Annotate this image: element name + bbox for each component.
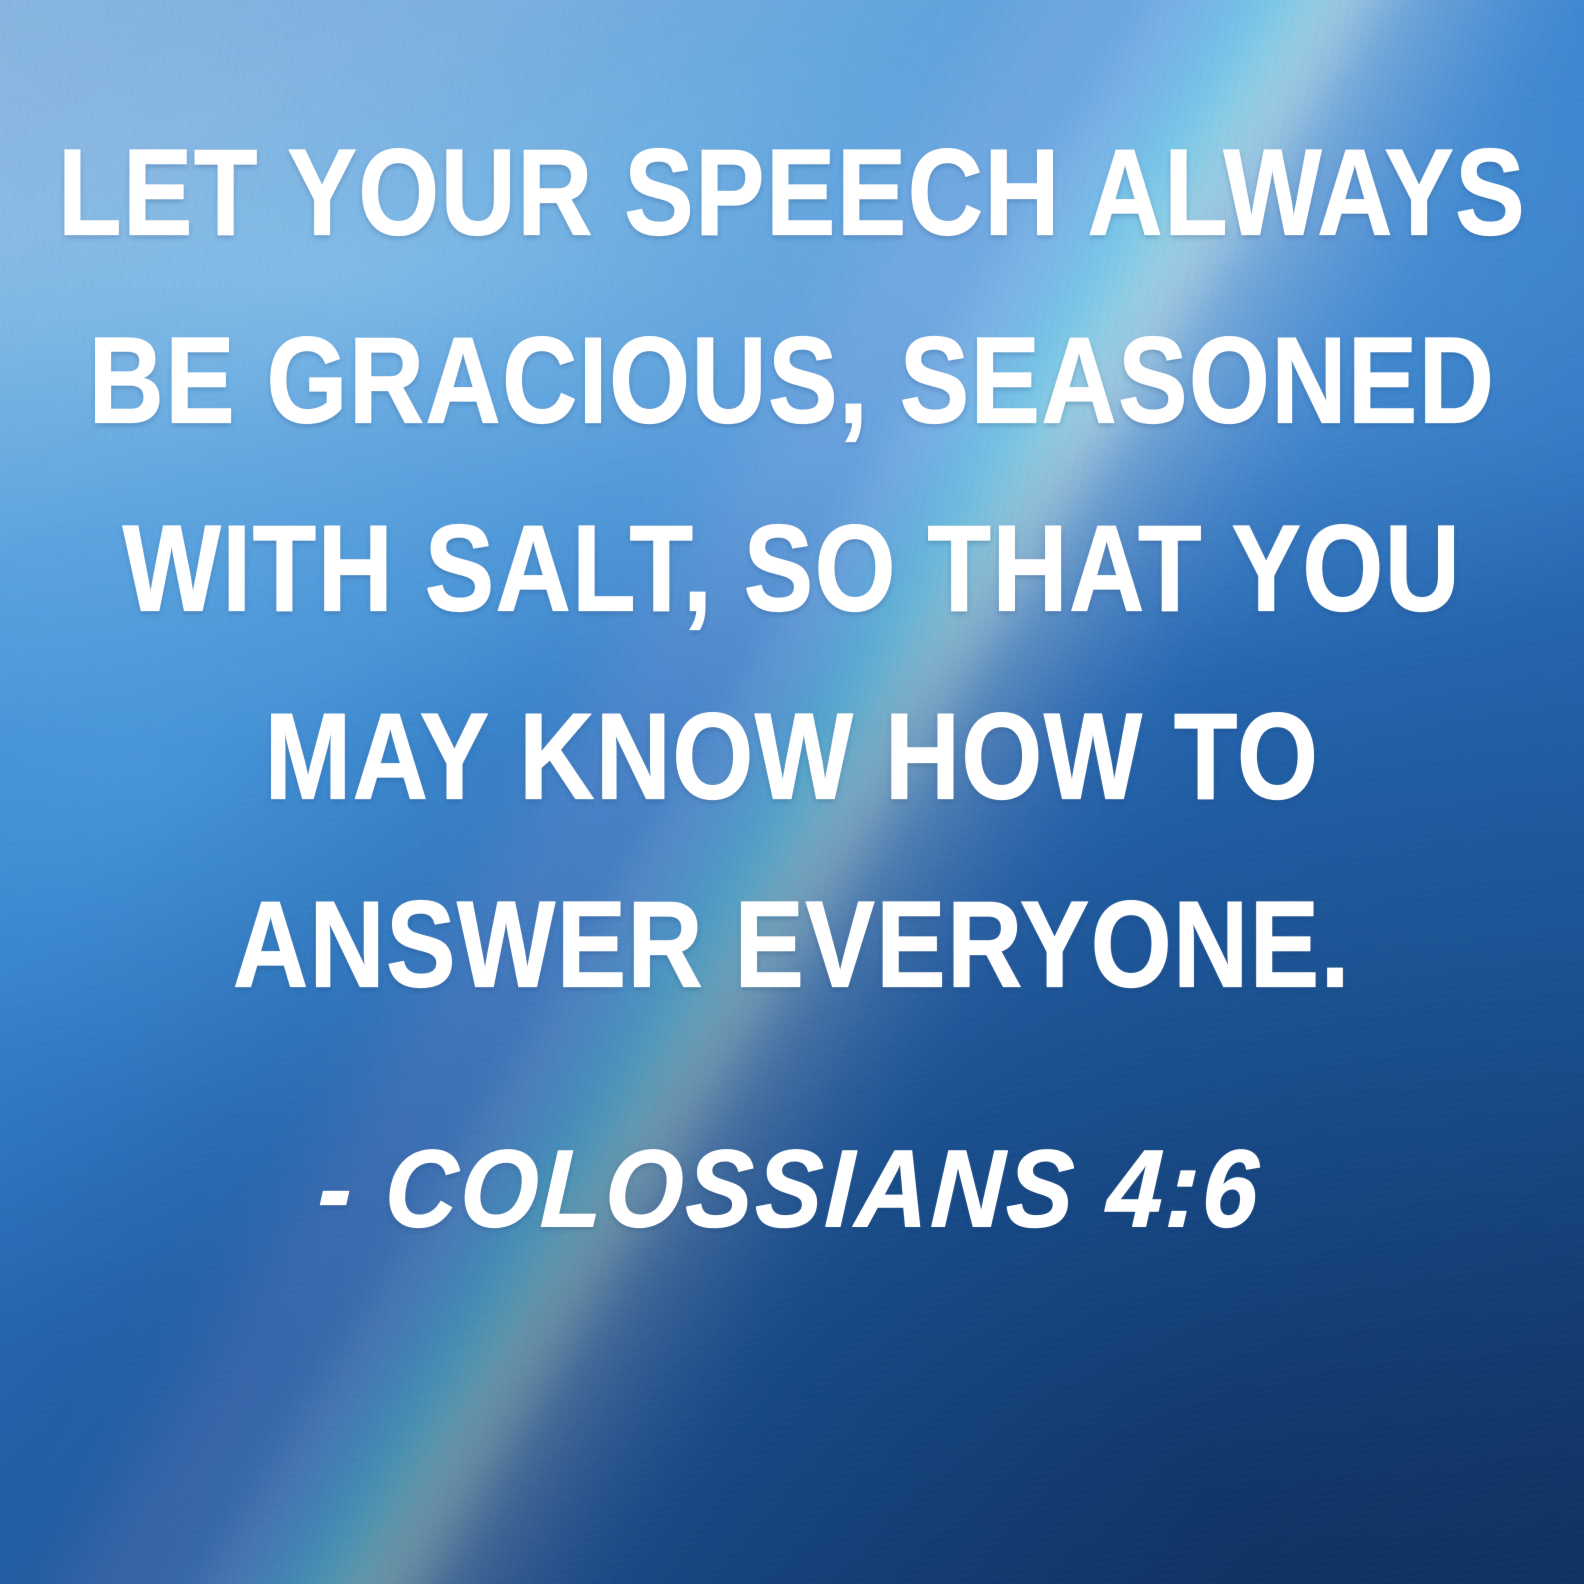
verse-line-1: LET YOUR SPEECH ALWAYS — [58, 132, 1526, 255]
verse-line-5: ANSWER EVERYONE. — [233, 884, 1351, 1007]
verse-citation: - COLOSSIANS 4:6 — [315, 1134, 1263, 1244]
verse-line-2: BE GRACIOUS, SEASONED — [89, 320, 1496, 443]
verse-line-4: MAY KNOW HOW TO — [265, 696, 1320, 819]
verse-line-3: WITH SALT, SO THAT YOU — [123, 508, 1462, 631]
verse-image-card: LET YOUR SPEECH ALWAYS BE GRACIOUS, SEAS… — [0, 0, 1584, 1584]
verse-text-layer: LET YOUR SPEECH ALWAYS BE GRACIOUS, SEAS… — [0, 0, 1584, 1584]
